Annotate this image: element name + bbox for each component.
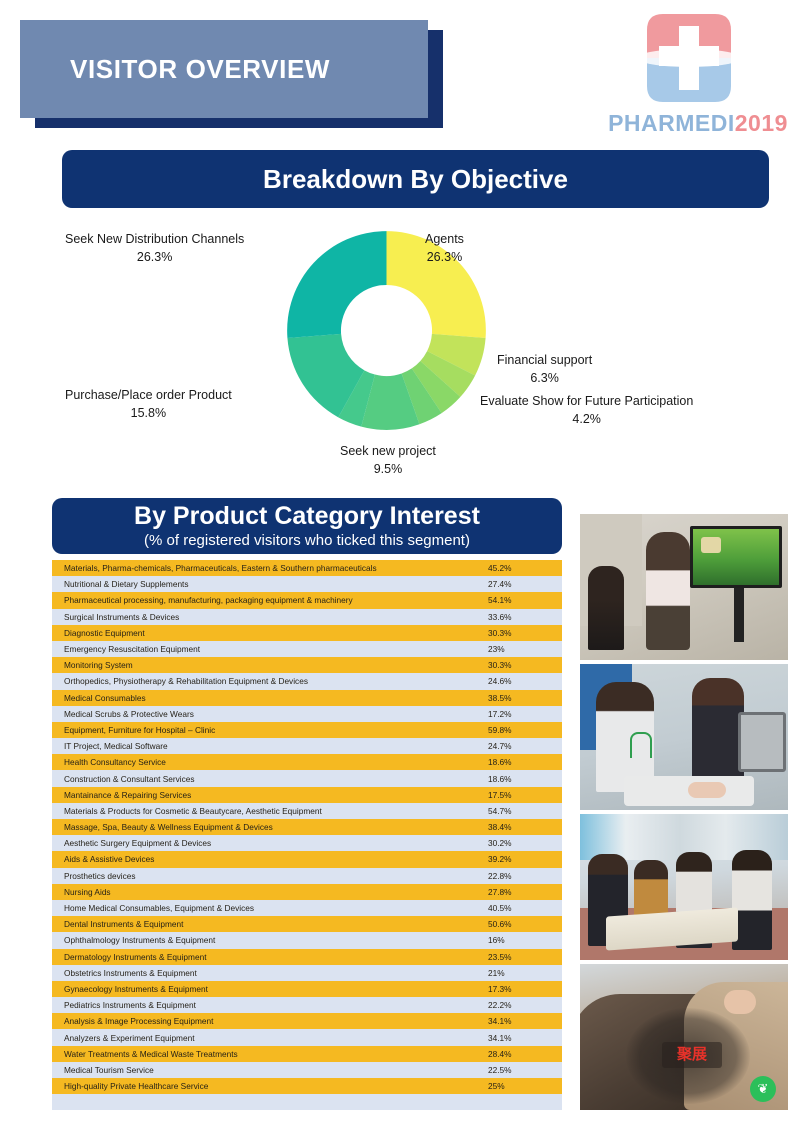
table-cell-percentage: 54.7% — [488, 806, 550, 816]
chart-label-text: Seek new project — [340, 442, 436, 460]
chart-label-value: 26.3% — [65, 248, 244, 266]
table-row: Aids & Assistive Devices39.2% — [52, 851, 562, 867]
chart-label-purchase-place-order: Purchase/Place order Product 15.8% — [65, 386, 232, 422]
chart-label-value: 26.3% — [425, 248, 464, 266]
table-cell-percentage: 17.3% — [488, 984, 550, 994]
objective-donut-chart: Seek New Distribution Channels 26.3% Age… — [0, 215, 800, 490]
visitor-overview-page: VISITOR OVERVIEW PHARMEDI2019 Breakdown … — [0, 0, 800, 1131]
breakdown-by-objective-banner: Breakdown By Objective — [62, 150, 769, 208]
table-cell-category: Health Consultancy Service — [64, 757, 488, 767]
table-cell-percentage: 40.5% — [488, 903, 550, 913]
table-cell-category: Prosthetics devices — [64, 871, 488, 881]
lanyard — [630, 732, 652, 758]
table-cell-category: Mantainance & Repairing Services — [64, 790, 488, 800]
monitor-device — [738, 712, 786, 772]
training-manikin — [688, 782, 726, 798]
table-row: Massage, Spa, Beauty & Wellness Equipmen… — [52, 819, 562, 835]
table-row: Water Treatments & Medical Waste Treatme… — [52, 1046, 562, 1062]
chart-label-text: Agents — [425, 230, 464, 248]
product-category-table: Materials, Pharma-chemicals, Pharmaceuti… — [52, 560, 562, 1110]
table-cell-category: Construction & Consultant Services — [64, 774, 488, 784]
table-row: Nutritional & Dietary Supplements27.4% — [52, 576, 562, 592]
chart-label-seek-new-distribution-channels: Seek New Distribution Channels 26.3% — [65, 230, 244, 266]
table-row: Materials & Products for Cosmetic & Beau… — [52, 803, 562, 819]
banner-title: By Product Category Interest — [134, 503, 480, 529]
table-cell-percentage: 34.1% — [488, 1033, 550, 1043]
table-cell-percentage: 27.8% — [488, 887, 550, 897]
chart-label-value: 4.2% — [480, 410, 693, 428]
table-cell-percentage: 16% — [488, 935, 550, 945]
page-title: VISITOR OVERVIEW — [20, 54, 330, 85]
table-cell-category: Obstetrics Instruments & Equipment — [64, 968, 488, 978]
medical-cross-icon — [633, 8, 745, 108]
table-cell-percentage: 30.3% — [488, 660, 550, 670]
table-cell-percentage: 28.4% — [488, 1049, 550, 1059]
banner-subtitle: (% of registered visitors who ticked thi… — [144, 532, 470, 549]
table-cell-category: Massage, Spa, Beauty & Wellness Equipmen… — [64, 822, 488, 832]
table-cell-percentage: 34.1% — [488, 1016, 550, 1026]
table-cell-category: Monitoring System — [64, 660, 488, 670]
table-row: Medical Tourism Service22.5% — [52, 1062, 562, 1078]
header-title-block: VISITOR OVERVIEW — [20, 20, 428, 118]
table-cell-percentage: 17.5% — [488, 790, 550, 800]
table-cell-percentage: 25% — [488, 1081, 550, 1091]
table-cell-percentage: 45.2% — [488, 563, 550, 573]
table-row — [52, 1094, 562, 1110]
table-cell-percentage: 27.4% — [488, 579, 550, 589]
table-cell-category: Ophthalmology Instruments & Equipment — [64, 935, 488, 945]
reclining-person-head — [724, 990, 756, 1014]
table-cell-percentage: 38.5% — [488, 693, 550, 703]
table-cell-percentage: 23.5% — [488, 952, 550, 962]
photo-booth-screen-demo — [580, 514, 788, 660]
table-row: Materials, Pharma-chemicals, Pharmaceuti… — [52, 560, 562, 576]
table-row: Monitoring System30.3% — [52, 657, 562, 673]
table-row: Ophthalmology Instruments & Equipment16% — [52, 932, 562, 948]
table-row: Analyzers & Experiment Equipment34.1% — [52, 1029, 562, 1045]
logo-wordmark: PHARMEDI2019 — [608, 110, 788, 137]
table-cell-percentage: 38.4% — [488, 822, 550, 832]
table-row: Medical Consumables38.5% — [52, 690, 562, 706]
table-cell-category: Home Medical Consumables, Equipment & De… — [64, 903, 488, 913]
table-cell-category: Materials & Products for Cosmetic & Beau… — [64, 806, 488, 816]
chart-label-text: Evaluate Show for Future Participation — [480, 392, 693, 410]
table-row: Prosthetics devices22.8% — [52, 868, 562, 884]
photo-mattress-demo — [580, 814, 788, 960]
table-row: High-quality Private Healthcare Service2… — [52, 1078, 562, 1094]
table-cell-percentage: 50.6% — [488, 919, 550, 929]
table-row: IT Project, Medical Software24.7% — [52, 738, 562, 754]
donut-slice — [287, 231, 386, 338]
chart-label-text: Seek New Distribution Channels — [65, 230, 244, 248]
table-cell-percentage: 24.7% — [488, 741, 550, 751]
table-cell-category: Emergency Resuscitation Equipment — [64, 644, 488, 654]
chart-label-text: Purchase/Place order Product — [65, 386, 232, 404]
table-cell-percentage: 22.8% — [488, 871, 550, 881]
chart-label-value: 15.8% — [65, 404, 232, 422]
chart-label-value: 6.3% — [497, 369, 592, 387]
table-cell-category: Analysis & Image Processing Equipment — [64, 1016, 488, 1026]
table-cell-category: Aesthetic Surgery Equipment & Devices — [64, 838, 488, 848]
table-row: Pediatrics Instruments & Equipment22.2% — [52, 997, 562, 1013]
logo-text-year: 2019 — [735, 110, 788, 136]
table-cell-category: Nursing Aids — [64, 887, 488, 897]
photo-massage-chair: 聚展 ❦ — [580, 964, 788, 1110]
by-product-category-interest-banner: By Product Category Interest (% of regis… — [52, 498, 562, 554]
watermark-text: 聚展 — [662, 1042, 722, 1068]
table-cell-category: IT Project, Medical Software — [64, 741, 488, 751]
table-cell-category: Pediatrics Instruments & Equipment — [64, 1000, 488, 1010]
table-cell-percentage: 18.6% — [488, 774, 550, 784]
table-cell-category: Dental Instruments & Equipment — [64, 919, 488, 929]
table-cell-category: High-quality Private Healthcare Service — [64, 1081, 488, 1091]
table-cell-category: Dermatology Instruments & Equipment — [64, 952, 488, 962]
table-cell-category: Medical Scrubs & Protective Wears — [64, 709, 488, 719]
screen-stand — [734, 588, 744, 642]
table-cell-category: Surgical Instruments & Devices — [64, 612, 488, 622]
table-cell-percentage: 33.6% — [488, 612, 550, 622]
table-cell-percentage: 21% — [488, 968, 550, 978]
table-row: Health Consultancy Service18.6% — [52, 754, 562, 770]
table-cell-percentage: 24.6% — [488, 676, 550, 686]
table-cell-percentage: 22.2% — [488, 1000, 550, 1010]
photo-gallery: 聚展 ❦ — [580, 514, 790, 1114]
table-cell-percentage: 17.2% — [488, 709, 550, 719]
table-row: Aesthetic Surgery Equipment & Devices30.… — [52, 835, 562, 851]
table-cell-percentage: 18.6% — [488, 757, 550, 767]
table-cell-category: Gynaecology Instruments & Equipment — [64, 984, 488, 994]
table-row: Orthopedics, Physiotherapy & Rehabilitat… — [52, 673, 562, 689]
table-cell-category: Materials, Pharma-chemicals, Pharmaceuti… — [64, 563, 488, 573]
table-cell-percentage: 39.2% — [488, 854, 550, 864]
table-row: Gynaecology Instruments & Equipment17.3% — [52, 981, 562, 997]
pharmedi-logo: PHARMEDI2019 — [608, 8, 788, 136]
table-cell-percentage: 23% — [488, 644, 550, 654]
table-row: Surgical Instruments & Devices33.6% — [52, 609, 562, 625]
table-row: Dermatology Instruments & Equipment23.5% — [52, 949, 562, 965]
table-cell-category: Medical Consumables — [64, 693, 488, 703]
seated-visitor-figure — [588, 566, 624, 650]
table-cell-percentage: 30.3% — [488, 628, 550, 638]
table-row: Diagnostic Equipment30.3% — [52, 625, 562, 641]
table-cell-category: Pharmaceutical processing, manufacturing… — [64, 595, 488, 605]
table-row: Construction & Consultant Services18.6% — [52, 770, 562, 786]
logo-text-primary: PHARMEDI — [608, 110, 735, 136]
chart-label-financial-support: Financial support 6.3% — [497, 351, 592, 387]
table-row: Pharmaceutical processing, manufacturing… — [52, 592, 562, 608]
chart-label-evaluate-show: Evaluate Show for Future Participation 4… — [480, 392, 693, 428]
table-row: Mantainance & Repairing Services17.5% — [52, 787, 562, 803]
table-cell-percentage: 54.1% — [488, 595, 550, 605]
chart-label-seek-new-project: Seek new project 9.5% — [340, 442, 436, 478]
table-cell-percentage: 30.2% — [488, 838, 550, 848]
table-cell-category: Medical Tourism Service — [64, 1065, 488, 1075]
person-figure — [732, 850, 772, 950]
banner-title: Breakdown By Objective — [263, 164, 568, 195]
chart-label-value: 9.5% — [340, 460, 436, 478]
table-row: Nursing Aids27.8% — [52, 884, 562, 900]
table-cell-percentage: 59.8% — [488, 725, 550, 735]
chart-label-text: Financial support — [497, 351, 592, 369]
table-row: Emergency Resuscitation Equipment23% — [52, 641, 562, 657]
watermark-badge-icon: ❦ — [750, 1076, 776, 1102]
table-cell-percentage: 22.5% — [488, 1065, 550, 1075]
table-cell-category: Orthopedics, Physiotherapy & Rehabilitat… — [64, 676, 488, 686]
table-row: Obstetrics Instruments & Equipment21% — [52, 965, 562, 981]
table-cell-category: Water Treatments & Medical Waste Treatme… — [64, 1049, 488, 1059]
table-cell-category: Diagnostic Equipment — [64, 628, 488, 638]
chart-label-agents: Agents 26.3% — [425, 230, 464, 266]
table-row: Analysis & Image Processing Equipment34.… — [52, 1013, 562, 1029]
table-row: Medical Scrubs & Protective Wears17.2% — [52, 706, 562, 722]
table-row: Home Medical Consumables, Equipment & De… — [52, 900, 562, 916]
presenter-figure — [646, 532, 690, 650]
photo-manikin-discussion — [580, 664, 788, 810]
table-row: Equipment, Furniture for Hospital – Clin… — [52, 722, 562, 738]
table-cell-category: Nutritional & Dietary Supplements — [64, 579, 488, 589]
visitor-figure — [692, 678, 744, 790]
table-cell-category: Equipment, Furniture for Hospital – Clin… — [64, 725, 488, 735]
table-row: Dental Instruments & Equipment50.6% — [52, 916, 562, 932]
table-cell-category: Aids & Assistive Devices — [64, 854, 488, 864]
display-screen — [690, 526, 782, 588]
table-cell-category: Analyzers & Experiment Equipment — [64, 1033, 488, 1043]
